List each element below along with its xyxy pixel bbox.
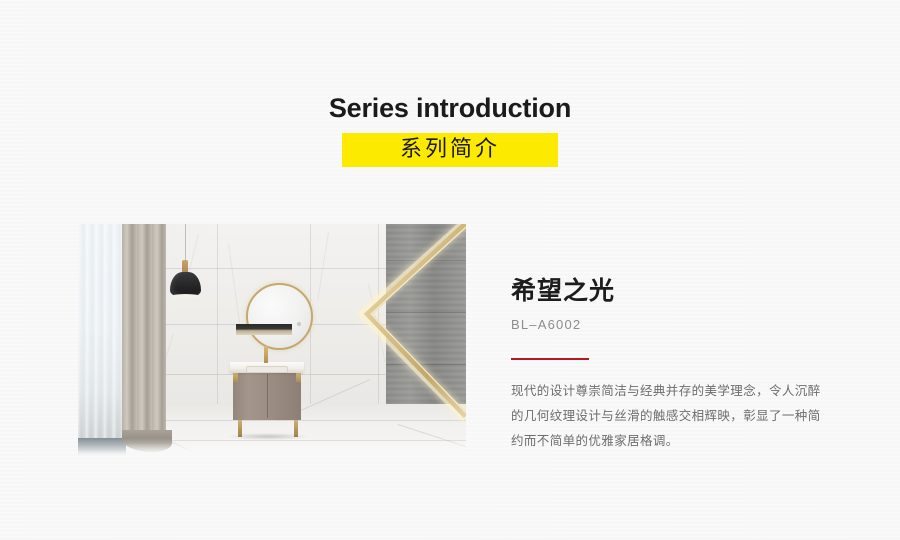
product-image (78, 224, 466, 456)
section-heading: Series introduction 系列简介 (0, 92, 900, 167)
page-title-chinese-wrap: 系列简介 (0, 133, 900, 167)
page-title-english: Series introduction (0, 92, 900, 124)
cabinet-gold-trim-right (296, 372, 301, 382)
product-info: 希望之光 BL–A6002 现代的设计尊崇简洁与经典并存的美学理念，令人沉醉的几… (511, 276, 841, 453)
taupe-drape (122, 224, 166, 446)
cabinet-gold-trim-left (233, 372, 238, 382)
product-code: BL–A6002 (511, 317, 841, 332)
stone-tile-wall (386, 224, 466, 420)
pendant-lamp-cord (185, 224, 186, 260)
pendant-lamp-rim (170, 294, 201, 299)
stone-grout-line (386, 312, 466, 313)
red-divider (511, 358, 589, 360)
gold-faucet (264, 346, 268, 363)
product-title: 希望之光 (511, 276, 841, 306)
wall-shelf (236, 324, 292, 335)
vanity-basin (246, 366, 288, 373)
cabinet-leg-left (238, 420, 242, 437)
cabinet-leg-right (294, 420, 298, 437)
cabinet-door-seam (267, 374, 268, 418)
round-gold-mirror (246, 283, 313, 350)
mirror-touch-sensor-icon (297, 322, 301, 326)
product-description: 现代的设计尊崇简洁与经典并存的美学理念，令人沉醉的几何纹理设计与丝滑的触感交相辉… (511, 378, 829, 453)
product-showcase-page: Series introduction 系列简介 (0, 0, 900, 540)
image-bottom-fade (78, 438, 466, 456)
stone-grout-line (386, 260, 466, 261)
stone-grout-line (386, 364, 466, 365)
page-title-chinese: 系列简介 (342, 133, 558, 167)
